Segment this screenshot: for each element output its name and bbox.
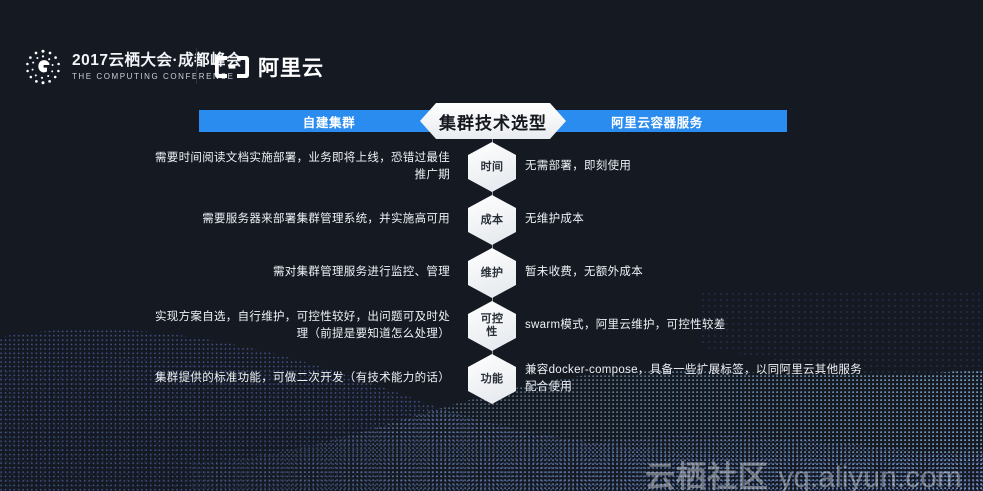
row-label: 维护 xyxy=(477,267,507,280)
row-left-cell: 需要时间阅读文档实施部署，业务即将上线，恐错过最佳推广期 xyxy=(150,140,450,193)
row-right-cell: 无维护成本 xyxy=(525,193,865,246)
comparison-row: 实现方案自选，自行维护，可控性较好，出问题可及时处理（前提是要知道怎么处理） 可… xyxy=(0,299,983,352)
conference-logo: 2017云栖大会·成都峰会 THE COMPUTING CONFERENCE xyxy=(24,48,242,86)
row-left-cell: 需对集群管理服务进行监控、管理 xyxy=(150,246,450,299)
comparison-header-bar: 自建集群 阿里云容器服务 集群技术选型 xyxy=(199,110,787,132)
row-label: 可控性 xyxy=(477,313,507,339)
column-header-right-label: 阿里云容器服务 xyxy=(611,112,703,131)
row-label-hexagon: 成本 xyxy=(468,195,516,245)
row-label-hexagon: 可控性 xyxy=(468,301,516,351)
watermark-url: yq.aliyun.com xyxy=(778,461,961,491)
logo-divider xyxy=(196,48,197,84)
conference-c-mark-icon xyxy=(24,48,62,86)
row-right-cell: 兼容docker-compose，具备一些扩展标签，以同阿里云其他服务配合使用 xyxy=(525,352,865,405)
slide-canvas: 2017云栖大会·成都峰会 THE COMPUTING CONFERENCE 阿… xyxy=(0,0,983,491)
aliyun-logo: 阿里云 xyxy=(214,52,324,82)
row-left-text: 需要服务器来部署集群管理系统，并实施高可用 xyxy=(202,211,450,228)
row-left-text: 实现方案自选，自行维护，可控性较好，出问题可及时处理（前提是要知道怎么处理） xyxy=(150,309,450,343)
row-label-hexagon: 功能 xyxy=(468,354,516,404)
row-label: 成本 xyxy=(477,214,507,227)
row-label-hexagon: 维护 xyxy=(468,248,516,298)
row-right-cell: swarm模式，阿里云维护，可控性较差 xyxy=(525,299,865,352)
row-left-text: 需对集群管理服务进行监控、管理 xyxy=(273,264,450,281)
row-left-text: 集群提供的标准功能，可做二次开发（有技术能力的话） xyxy=(155,370,450,387)
row-right-cell: 无需部署，即刻使用 xyxy=(525,140,865,193)
row-left-cell: 实现方案自选，自行维护，可控性较好，出问题可及时处理（前提是要知道怎么处理） xyxy=(150,299,450,352)
aliyun-bracket-icon xyxy=(214,54,250,80)
row-left-cell: 集群提供的标准功能，可做二次开发（有技术能力的话） xyxy=(150,352,450,405)
row-label: 功能 xyxy=(477,373,507,386)
watermark-brand: 云栖社区 xyxy=(645,461,778,491)
column-header-right: 阿里云容器服务 xyxy=(527,110,787,132)
row-label-hexagon: 时间 xyxy=(468,142,516,192)
comparison-title: 集群技术选型 xyxy=(439,109,547,134)
comparison-row: 集群提供的标准功能，可做二次开发（有技术能力的话） 功能 兼容docker-co… xyxy=(0,352,983,405)
row-right-text: swarm模式，阿里云维护，可控性较差 xyxy=(525,317,726,334)
row-label: 时间 xyxy=(477,161,507,174)
row-right-cell: 暂未收费，无额外成本 xyxy=(525,246,865,299)
comparison-row: 需要时间阅读文档实施部署，业务即将上线，恐错过最佳推广期 时间 无需部署，即刻使… xyxy=(0,140,983,193)
aliyun-logo-text: 阿里云 xyxy=(258,52,324,82)
header-logo-bar: 2017云栖大会·成都峰会 THE COMPUTING CONFERENCE 阿… xyxy=(0,22,983,74)
row-right-text: 暂未收费，无额外成本 xyxy=(525,264,643,281)
comparison-rows: 需要时间阅读文档实施部署，业务即将上线，恐错过最佳推广期 时间 无需部署，即刻使… xyxy=(0,140,983,405)
row-right-text: 兼容docker-compose，具备一些扩展标签，以同阿里云其他服务配合使用 xyxy=(525,362,865,396)
comparison-row: 需对集群管理服务进行监控、管理 维护 暂未收费，无额外成本 xyxy=(0,246,983,299)
watermark: 云栖社区 yq.aliyun.com xyxy=(645,452,962,491)
row-left-cell: 需要服务器来部署集群管理系统，并实施高可用 xyxy=(150,193,450,246)
column-header-left-label: 自建集群 xyxy=(303,112,355,131)
row-right-text: 无维护成本 xyxy=(525,211,584,228)
row-left-text: 需要时间阅读文档实施部署，业务即将上线，恐错过最佳推广期 xyxy=(150,150,450,184)
row-right-text: 无需部署，即刻使用 xyxy=(525,158,631,175)
comparison-row: 需要服务器来部署集群管理系统，并实施高可用 成本 无维护成本 xyxy=(0,193,983,246)
comparison-title-hexagon: 集群技术选型 xyxy=(420,103,566,139)
